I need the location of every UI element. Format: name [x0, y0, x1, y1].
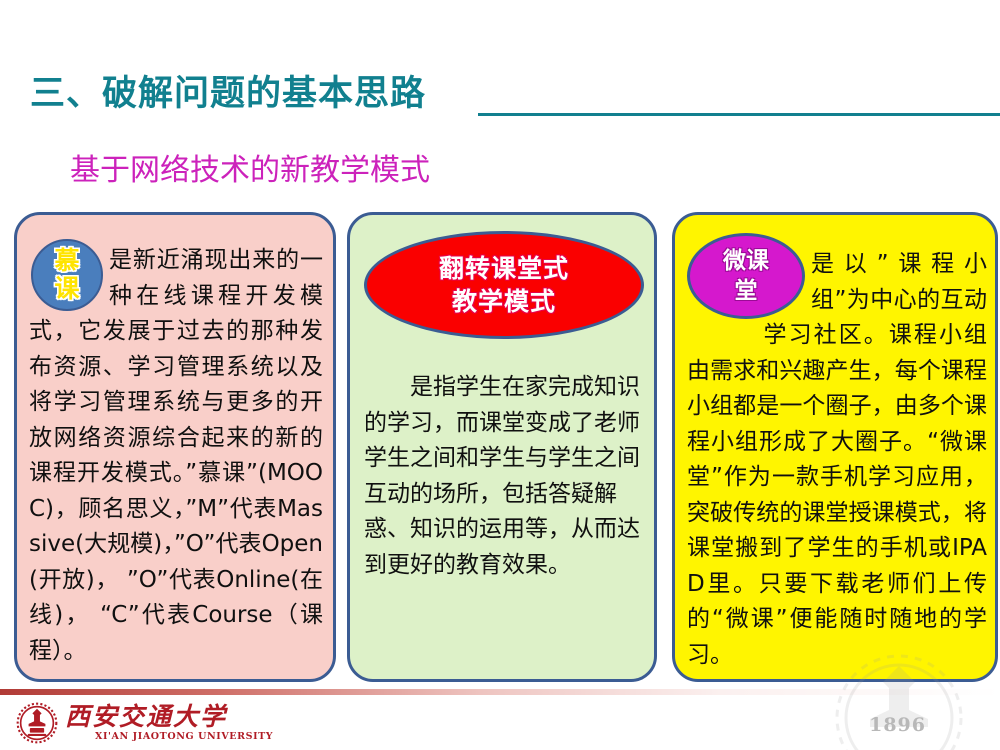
slide-canvas: 三、破解问题的基本思路 基于网络技术的新教学模式 慕 课 是新近涌现出来的一种在…: [0, 0, 1000, 750]
badge-micro-label-line2: 堂: [735, 276, 758, 306]
badge-mooc-label-line1: 慕: [54, 247, 79, 275]
gear-emblem-icon: [16, 702, 58, 744]
university-name-en: XI'AN JIAOTONG UNIVERSITY: [95, 731, 273, 743]
slide-subtitle: 基于网络技术的新教学模式: [70, 152, 430, 190]
university-wordmark: 西安交通大学 XI'AN JIAOTONG UNIVERSITY: [65, 704, 273, 743]
badge-mooc-label-line2: 课: [54, 275, 79, 303]
badge-mooc: 慕 课: [31, 239, 103, 311]
card-flipped-text: 是指学生在家完成知识的学习，而课堂变成了老师学生之间和学生与学生之间互动的场所，…: [364, 374, 640, 578]
university-name-cn: 西安交通大学: [65, 704, 273, 730]
card-micro-body-wrap: 微课 堂 是以”课程小组”为中心的互动学习社区。课程小组由需求和兴趣产生，每个课…: [675, 215, 995, 679]
badge-micro-label-line1: 微课: [723, 246, 769, 276]
card-micro-classroom: 微课 堂 是以”课程小组”为中心的互动学习社区。课程小组由需求和兴趣产生，每个课…: [672, 212, 998, 682]
page-title: 三、破解问题的基本思路: [30, 72, 426, 116]
footer-divider: [0, 689, 1000, 695]
slide-title-row: 三、破解问题的基本思路: [0, 72, 1000, 122]
badge-micro-classroom: 微课 堂: [687, 233, 805, 319]
card-mooc-body-wrap: 慕 课 是新近涌现出来的一种在线课程开发模式，它发展于过去的那种发布资源、学习管…: [17, 215, 333, 679]
card-mooc: 慕 课 是新近涌现出来的一种在线课程开发模式，它发展于过去的那种发布资源、学习管…: [14, 212, 336, 682]
university-logo: 西安交通大学 XI'AN JIAOTONG UNIVERSITY: [16, 700, 316, 746]
watermark-year: 1896: [869, 714, 926, 736]
card-flipped-body-wrap: 是指学生在家完成知识的学习，而课堂变成了老师学生之间和学生与学生之间互动的场所，…: [350, 215, 654, 679]
card-flipped-classroom: 翻转课堂式 教学模式 是指学生在家完成知识的学习，而课堂变成了老师学生之间和学生…: [347, 212, 657, 682]
title-underline-rule: [478, 113, 1000, 116]
